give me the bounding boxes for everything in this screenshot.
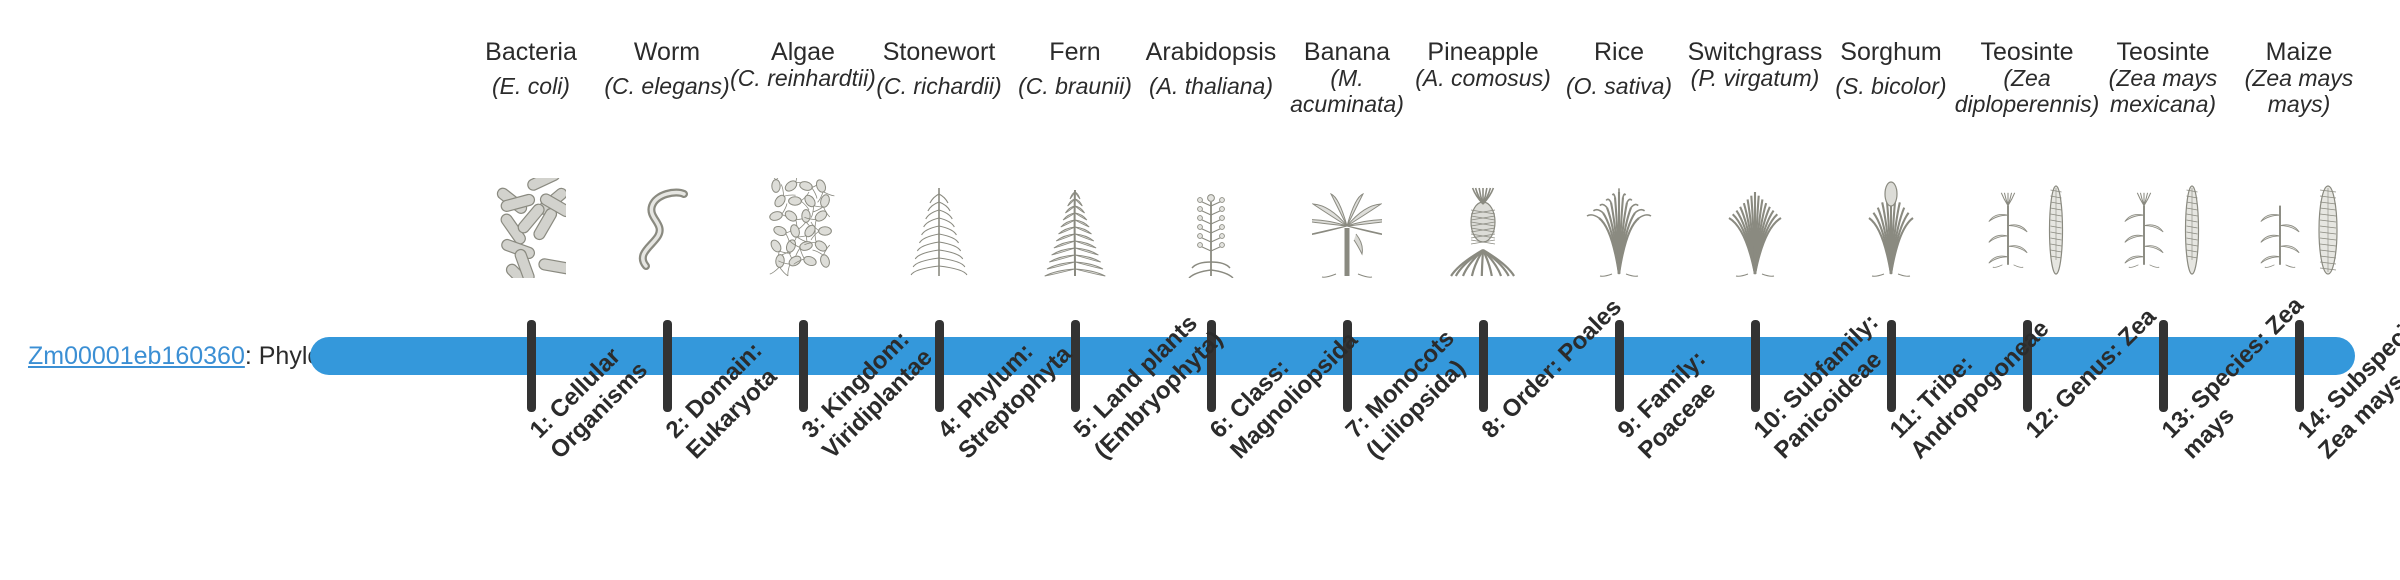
sorghum-plant-illustration <box>1823 168 1959 278</box>
stonewort-illustration <box>871 168 1007 278</box>
stratum-tick[interactable] <box>527 320 536 412</box>
maize-plant-and-ear-illustration <box>2231 168 2367 278</box>
fern-frond-illustration <box>1007 168 1143 278</box>
arabidopsis-plant-illustration <box>1143 168 1279 278</box>
gene-id-link[interactable]: Zm00001eb160360 <box>28 342 245 370</box>
rice-plant-illustration <box>1551 168 1687 278</box>
species-scientific-name: (P. virgatum) <box>1681 66 1829 92</box>
teosinte-plant-and-ear-illustration <box>1959 168 2095 278</box>
species-scientific-name: (Zea mays mays) <box>2225 66 2373 118</box>
green-algae-cells-illustration <box>735 168 871 278</box>
species-common-name: Maize <box>2219 38 2379 66</box>
species-scientific-name: (C. elegans) <box>593 74 741 100</box>
species-scientific-name: (O. sativa) <box>1545 74 1693 100</box>
stratum-tick[interactable] <box>2159 320 2168 412</box>
species-scientific-name: (S. bicolor) <box>1817 74 1965 100</box>
phylostratigraphy-chart: Zm00001eb160360: Phylostratum 1 Bacteria… <box>0 0 2400 580</box>
banana-plant-illustration <box>1279 168 1415 278</box>
species-scientific-name: (A. thaliana) <box>1137 74 1285 100</box>
nematode-worm-illustration <box>599 168 735 278</box>
species-scientific-name: (C. braunii) <box>1001 74 1149 100</box>
bacteria-rods-illustration <box>463 168 599 278</box>
species-scientific-name: (M. acuminata) <box>1273 66 1421 118</box>
species-scientific-name: (Zea diploperennis) <box>1953 66 2101 118</box>
stratum-tick[interactable] <box>1615 320 1624 412</box>
pineapple-plant-illustration <box>1415 168 1551 278</box>
species-scientific-name: (A. comosus) <box>1409 66 1557 92</box>
species-scientific-name: (C. reinhardtii) <box>729 66 877 92</box>
species-scientific-name: (Zea mays mexicana) <box>2089 66 2237 118</box>
species-scientific-name: (C. richardii) <box>865 74 1013 100</box>
species-scientific-name: (E. coli) <box>457 74 605 100</box>
switchgrass-plant-illustration <box>1687 168 1823 278</box>
teosinte-plant-and-ear-illustration <box>2095 168 2231 278</box>
